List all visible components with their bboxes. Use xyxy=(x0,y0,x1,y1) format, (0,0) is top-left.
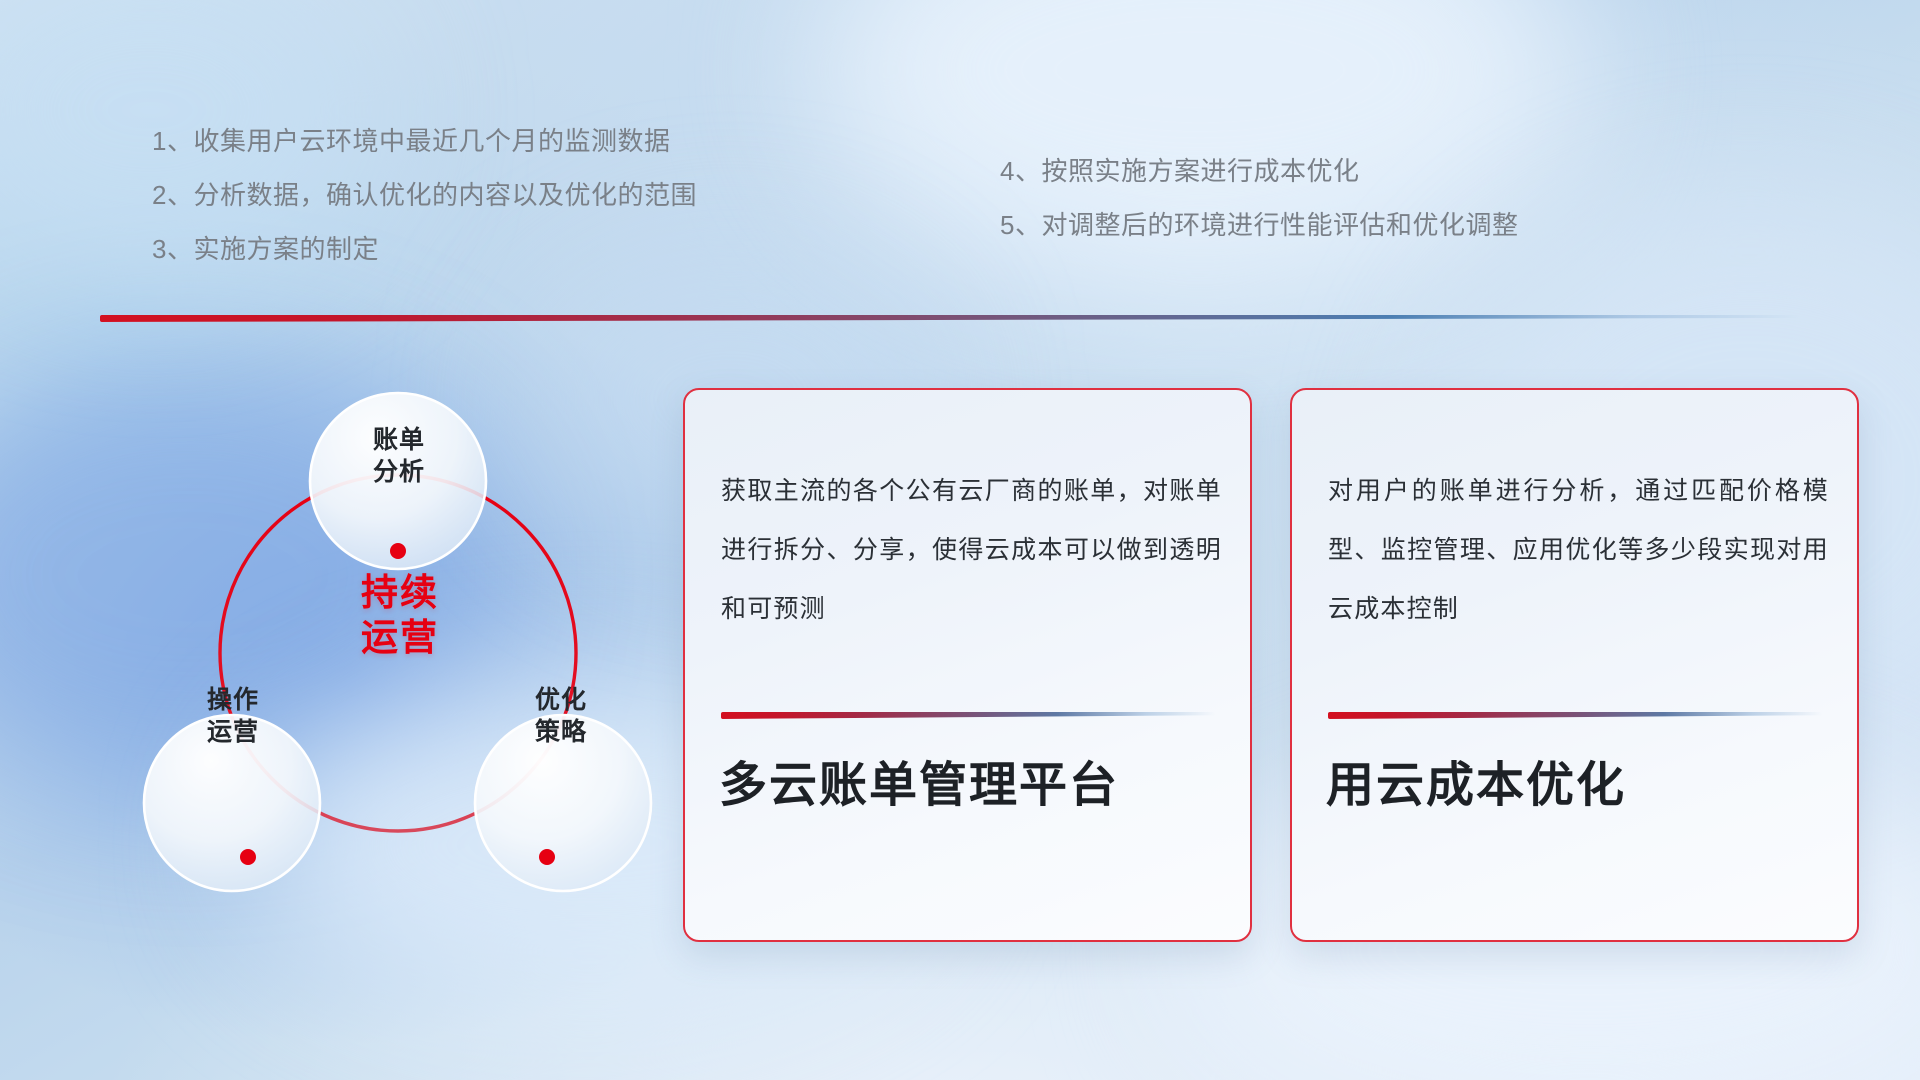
step-item-5: 5、对调整后的环境进行性能评估和优化调整 xyxy=(1000,212,1518,238)
node-bubble-top xyxy=(310,393,486,569)
connector-dot-top-node xyxy=(390,543,406,559)
step-item-4: 4、按照实施方案进行成本优化 xyxy=(1000,158,1518,184)
steps-right-column: 4、按照实施方案进行成本优化 5、对调整后的环境进行性能评估和优化调整 xyxy=(1000,158,1518,238)
section-divider-rule xyxy=(100,315,1800,322)
node-bubble-bottom-right xyxy=(475,715,651,891)
card-body-text: 对用户的账单进行分析，通过匹配价格模型、监控管理、应用优化等多少段实现对用云成本… xyxy=(1328,462,1829,638)
connector-dot-bottom-left-node xyxy=(240,849,256,865)
step-item-2: 2、分析数据，确认优化的内容以及优化的范围 xyxy=(152,182,697,208)
continuous-operation-diagram: 账单 分析 操作 运营 优化 策略 持续 运营 xyxy=(95,355,655,915)
slide-canvas: 1、收集用户云环境中最近几个月的监测数据 2、分析数据，确认优化的内容以及优化的… xyxy=(0,0,1920,1080)
card-title: 多云账单管理平台 xyxy=(719,758,1226,813)
card-body-text: 获取主流的各个公有云厂商的账单，对账单进行拆分、分享，使得云成本可以做到透明和可… xyxy=(721,462,1222,638)
card-divider-rule xyxy=(1328,712,1822,719)
card-title: 用云成本优化 xyxy=(1326,758,1833,813)
info-card-cloud-cost-optimization[interactable]: 对用户的账单进行分析，通过匹配价格模型、监控管理、应用优化等多少段实现对用云成本… xyxy=(1290,388,1859,942)
node-bubble-bottom-left xyxy=(144,715,320,891)
step-item-1: 1、收集用户云环境中最近几个月的监测数据 xyxy=(152,128,697,154)
info-card-multi-cloud-billing[interactable]: 获取主流的各个公有云厂商的账单，对账单进行拆分、分享，使得云成本可以做到透明和可… xyxy=(683,388,1252,942)
step-item-3: 3、实施方案的制定 xyxy=(152,236,697,262)
card-divider-rule xyxy=(721,712,1215,719)
steps-left-column: 1、收集用户云环境中最近几个月的监测数据 2、分析数据，确认优化的内容以及优化的… xyxy=(152,128,697,262)
connector-dot-bottom-right-node xyxy=(539,849,555,865)
